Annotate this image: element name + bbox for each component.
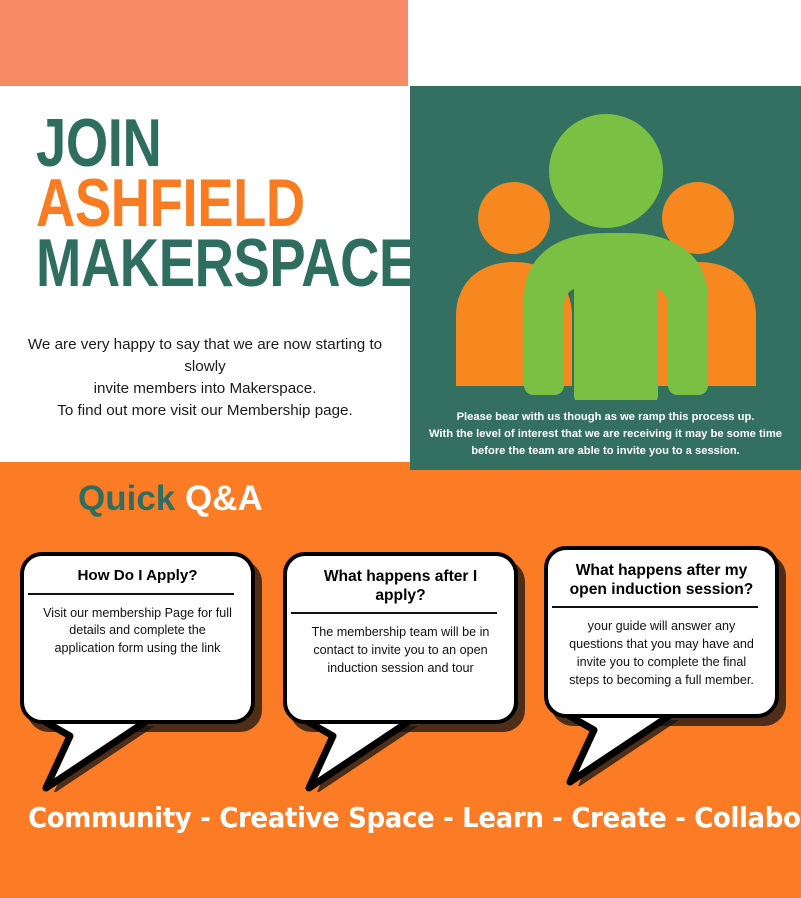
panel-caption-line-2: With the level of interest that we are r… xyxy=(424,426,787,443)
bubble-text: your guide will answer any questions tha… xyxy=(562,618,761,690)
bubble-title: What happens after my open induction ses… xyxy=(562,561,761,599)
hero-body-line-2: invite members into Makerspace. xyxy=(10,378,400,400)
panel-caption: Please bear with us though as we ramp th… xyxy=(424,409,787,460)
qa-bubble-1: How Do I Apply? Visit our membership Pag… xyxy=(20,552,255,724)
orange-fill-strip xyxy=(410,470,801,500)
hero-body-text: We are very happy to say that we are now… xyxy=(10,334,400,422)
bubble-body: How Do I Apply? Visit our membership Pag… xyxy=(20,552,255,724)
bubble-divider xyxy=(28,593,234,595)
poster-canvas: JOIN ASHFIELD MAKERSPACE We are very hap… xyxy=(0,0,801,898)
bubble-body: What happens after my open induction ses… xyxy=(544,546,779,718)
headline-line-makerspace: MAKERSPACE xyxy=(36,234,415,294)
hero-image-panel: Please bear with us though as we ramp th… xyxy=(410,86,801,470)
qa-heading-qa: Q&A xyxy=(185,479,263,518)
top-accent-bar xyxy=(0,0,408,86)
panel-caption-line-3: before the team are able to invite you t… xyxy=(424,443,787,460)
qa-bubble-2: What happens after I apply? The membersh… xyxy=(283,552,518,724)
people-group-icon xyxy=(441,100,771,400)
panel-caption-line-1: Please bear with us though as we ramp th… xyxy=(424,409,787,426)
qa-bubble-3: What happens after my open induction ses… xyxy=(544,546,779,718)
bubble-text: Visit our membership Page for full detai… xyxy=(38,605,237,659)
qa-bubble-group: How Do I Apply? Visit our membership Pag… xyxy=(0,552,801,792)
hero-left-panel: JOIN ASHFIELD MAKERSPACE We are very hap… xyxy=(0,86,408,462)
speech-bubble-tail-icon xyxy=(287,714,437,792)
bubble-text: The membership team will be in contact t… xyxy=(301,624,500,678)
bubble-divider xyxy=(291,612,497,614)
speech-bubble-tail-icon xyxy=(24,714,174,792)
bubble-body: What happens after I apply? The membersh… xyxy=(283,552,518,724)
bubble-divider xyxy=(552,606,758,608)
qa-heading-quick: Quick xyxy=(78,479,175,518)
speech-bubble-tail-icon xyxy=(548,708,698,786)
bubble-title: How Do I Apply? xyxy=(38,567,237,586)
hero-body-line-3: To find out more visit our Membership pa… xyxy=(10,400,400,422)
bubble-title: What happens after I apply? xyxy=(301,567,500,605)
footer-tagline: Community - Creative Space - Learn - Cre… xyxy=(28,801,773,834)
hero-body-line-1: We are very happy to say that we are now… xyxy=(10,334,400,378)
qa-section-heading: Quick Q&A xyxy=(78,481,263,516)
